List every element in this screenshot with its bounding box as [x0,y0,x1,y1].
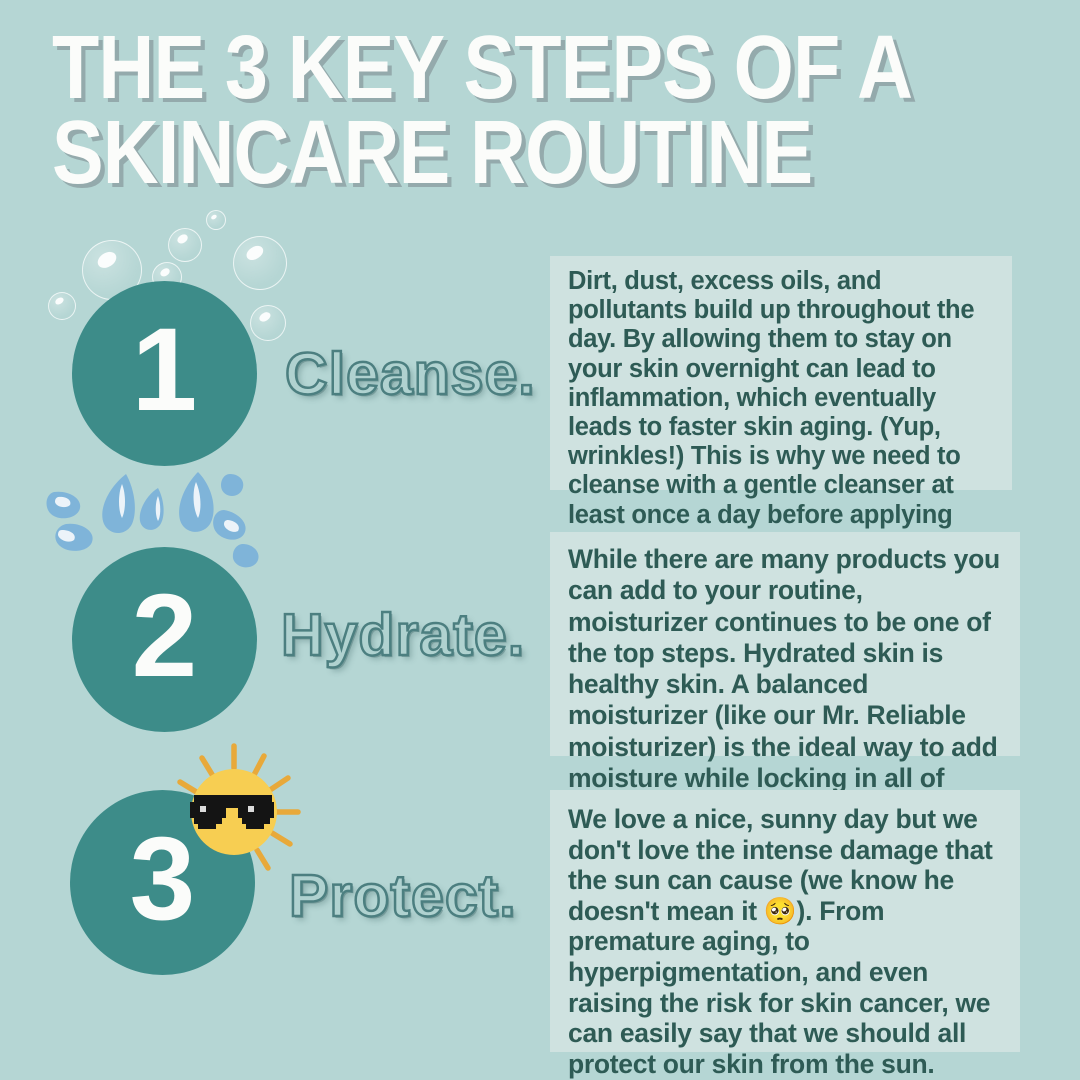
step-description-text-3: We love a nice, sunny day but we don't l… [568,804,1006,1080]
infographic-canvas: THE 3 KEY STEPS OF A SKINCARE ROUTINE [0,0,1080,1080]
bubble-shape [168,228,202,262]
step-description-box-3: We love a nice, sunny day but we don't l… [550,790,1020,1052]
step-description-box-2: While there are many products you can ad… [550,532,1020,756]
step-number-1: 1 [132,311,198,429]
step-number-2: 2 [132,577,198,695]
title-line-1: THE 3 KEY STEPS OF A [52,26,912,111]
bubble-shape [48,292,76,320]
step-description-text-1: Dirt, dust, excess oils, and pollutants … [568,267,998,559]
bubble-shape [233,236,287,290]
bubble-shape [206,210,226,230]
step-label-hydrate: Hydrate. [281,601,525,669]
step-circle-2: 2 [72,547,257,732]
bubble-shape [250,305,286,341]
step-label-cleanse: Cleanse. [285,340,536,408]
page-title: THE 3 KEY STEPS OF A SKINCARE ROUTINE [52,26,1052,195]
title-line-2: SKINCARE ROUTINE [52,111,912,196]
sun-icon [160,742,345,887]
step-description-text-2: While there are many products you can ad… [568,544,1006,825]
step-description-box-1: Dirt, dust, excess oils, and pollutants … [550,256,1012,490]
step-circle-1: 1 [72,281,257,466]
